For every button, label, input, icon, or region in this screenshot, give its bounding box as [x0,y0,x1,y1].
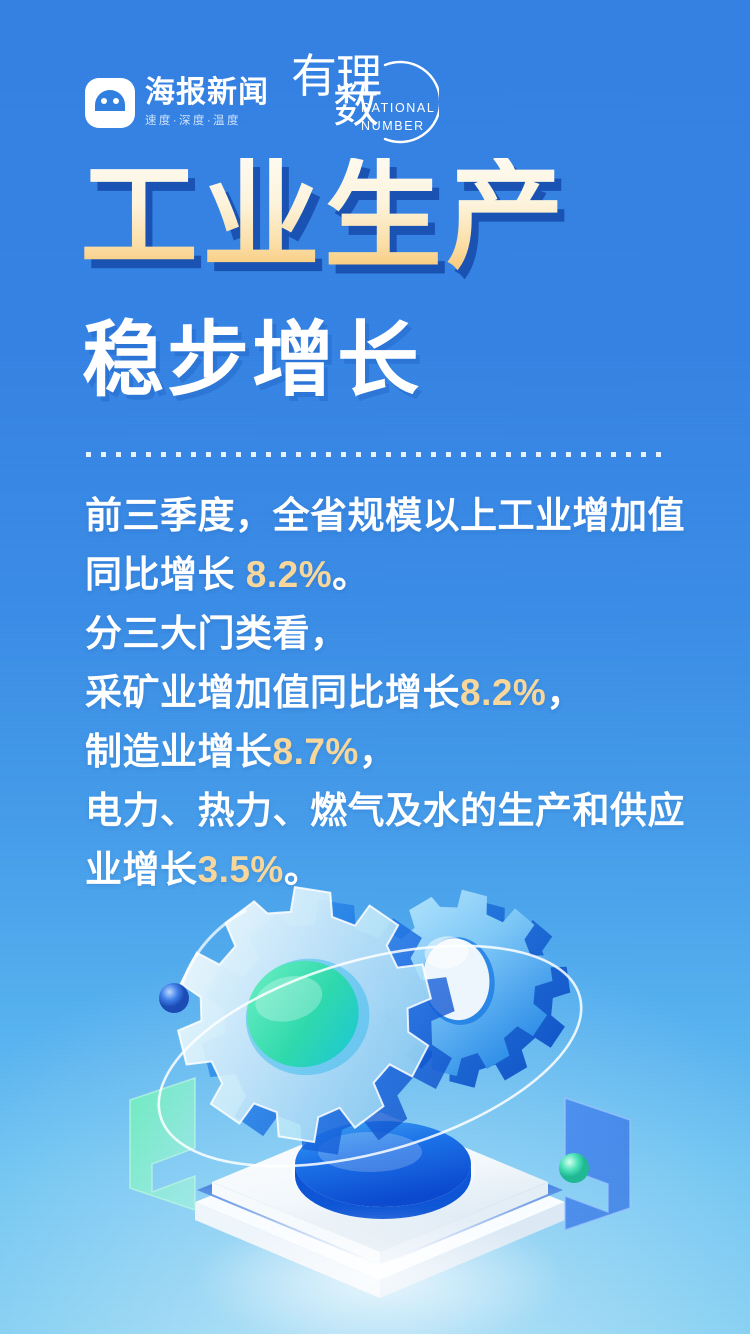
brand-text: 海报新闻 速度·深度·温度 [145,77,269,128]
body-line-2: 同比增长 8.2%。 [85,545,685,604]
header: 海报新闻 速度·深度·温度 有理 数 RATIONAL NUMBER [85,55,439,150]
body-line-4-punct: ， [546,672,584,713]
column-logo-en-line1: RATIONAL [361,99,435,117]
body-line-4: 采矿业增加值同比增长8.2%， [85,663,685,722]
column-logo-en: RATIONAL NUMBER [361,99,435,135]
body-line-1-text: 前三季度，全省规模以上工业增加值 [85,495,685,536]
body-line-1: 前三季度，全省规模以上工业增加值 [85,486,685,545]
poster: 海报新闻 速度·深度·温度 有理 数 RATIONAL NUMBER 工业生产 … [0,0,750,1334]
body-line-2-punct: 。 [332,554,370,595]
body-line-5: 制造业增长8.7%， [85,722,685,781]
page-title: 工业生产 [80,158,568,276]
stat-industrial-value: 8.2% [246,554,332,595]
body-line-2-text: 同比增长 [85,554,246,595]
column-logo-en-line2: NUMBER [361,117,435,135]
brand-logo: 海报新闻 速度·深度·温度 [85,77,269,128]
page-subtitle: 稳步增长 [82,320,422,402]
body-line-6: 电力、热力、燃气及水的生产和供应 [85,781,685,840]
orbit-bead-green [559,1153,589,1183]
body-line-4-text: 采矿业增加值同比增长 [85,672,460,713]
stat-mining: 8.2% [460,672,546,713]
haibao-ghost-icon [85,78,135,128]
body-line-3-text: 分三大门类看， [85,613,348,654]
orbit-bead-blue [159,983,189,1013]
body-line-5-text: 制造业增长 [85,731,273,772]
illustration-3d-gears [100,880,660,1320]
column-logo-cn: 有理 数 [291,53,381,99]
dotted-divider [86,452,670,457]
stat-manufacturing: 8.7% [273,731,359,772]
column-logo-rational-number: 有理 数 RATIONAL NUMBER [289,55,439,150]
body-line-6-text: 电力、热力、燃气及水的生产和供应 [85,790,685,831]
brand-tagline: 速度·深度·温度 [145,112,269,128]
body-line-5-punct: ， [359,731,397,772]
body-line-3: 分三大门类看， [85,604,685,663]
body-copy: 前三季度，全省规模以上工业增加值 同比增长 8.2%。 分三大门类看， 采矿业增… [85,486,685,899]
brand-name: 海报新闻 [145,77,269,109]
green-bracket [130,1078,195,1210]
